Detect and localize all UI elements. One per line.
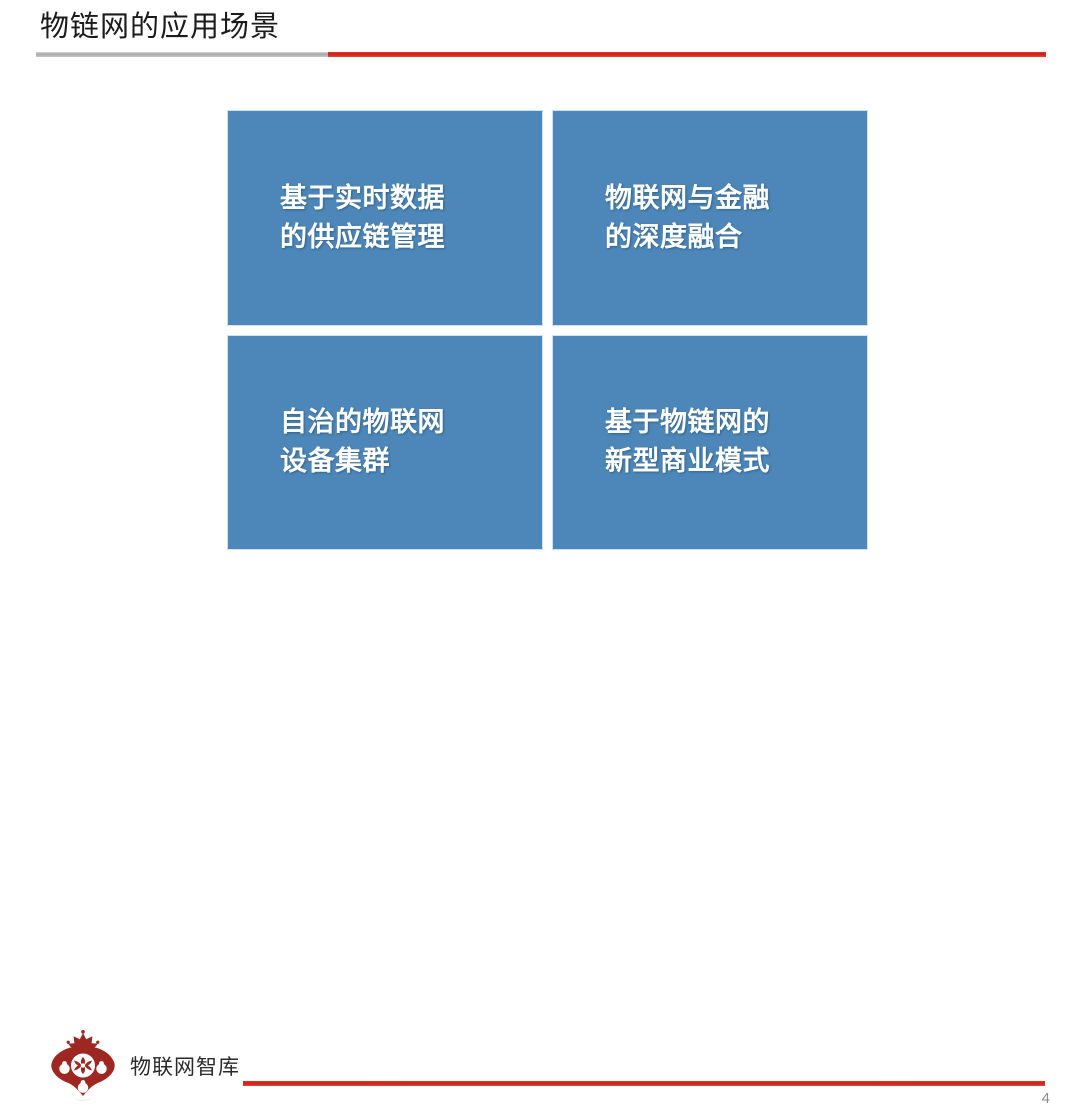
crown-shield-logo-icon	[44, 1030, 122, 1102]
page-number: 4	[1042, 1090, 1050, 1107]
brand-name: 物联网智库	[130, 1051, 240, 1081]
title-divider-gray-segment	[36, 52, 328, 57]
footer: 物联网智库 4	[0, 508, 1080, 608]
title-divider-red-segment	[328, 52, 1046, 57]
slide: 物链网的应用场景 基于实时数据 的供应链管理 物联网与金融 的深度融合 自治的物…	[0, 0, 1080, 608]
footer-divider	[243, 1081, 1045, 1086]
card-label: 基于实时数据 的供应链管理	[280, 179, 445, 257]
card-supply-chain[interactable]: 基于实时数据 的供应链管理	[227, 110, 543, 326]
card-label: 物联网与金融 的深度融合	[605, 179, 770, 257]
page-title: 物链网的应用场景	[40, 8, 280, 46]
card-iot-finance[interactable]: 物联网与金融 的深度融合	[552, 110, 868, 326]
brand: 物联网智库	[44, 1026, 244, 1106]
card-label: 自治的物联网 设备集群	[280, 403, 445, 481]
card-label: 基于物链网的 新型商业模式	[605, 403, 770, 481]
card-grid: 基于实时数据 的供应链管理 物联网与金融 的深度融合 自治的物联网 设备集群 基…	[227, 110, 868, 550]
title-divider	[36, 52, 1046, 57]
